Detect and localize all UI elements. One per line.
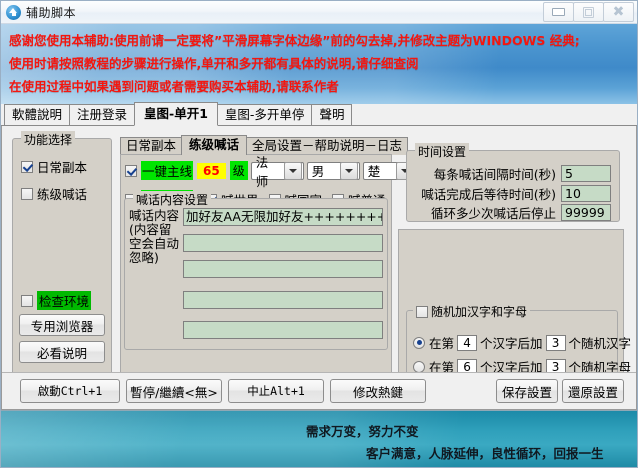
time-settings-legend: 时间设置 (415, 143, 469, 160)
shout-label-line-3: 空会自动 (129, 237, 181, 251)
shout-content-legend: 喊话内容设置 (133, 191, 211, 208)
checkbox-check-environment[interactable]: 检查环境 (21, 291, 91, 310)
notice-line-1: 感谢您使用本辅助:使用前请一定要将”平滑屏幕字体边缘”前的勾去掉,并修改主题为W… (9, 29, 637, 52)
check-environment-label: 检查环境 (37, 291, 91, 310)
function-select-legend: 功能选择 (21, 131, 75, 148)
tab-statement[interactable]: 聲明 (311, 104, 352, 125)
notice-line-2: 使用时请按照教程的步骤进行操作,单开和多开都有具体的说明,请仔细查阅 (9, 52, 637, 75)
checkbox-label: 练级喊话 (37, 184, 87, 203)
chevron-down-icon[interactable] (340, 162, 358, 180)
radio-prefix: 在第 (429, 333, 454, 352)
tab-content-panel: 功能选择 日常副本 练级喊话 检查环境 专用浏览器 必看说明 日常副 (1, 126, 637, 410)
interval-seconds-input[interactable]: 5 (561, 165, 611, 182)
tab-register-login[interactable]: 注册登录 (69, 104, 135, 125)
select-gender[interactable]: 男 (307, 162, 360, 180)
level-value-input[interactable]: 65 (197, 163, 226, 179)
main-tabstrip: 軟體說明 注册登录 皇图-单开1 皇图-多开单停 聲明 (1, 104, 637, 126)
shout-content-label: 喊话内容 (内容留 空会自动 忽略) (129, 209, 181, 265)
shout-input-5[interactable] (183, 321, 383, 339)
main-line-row: 一键主线 65 级 法师 男 楚 (125, 161, 416, 180)
checkbox-level-shout[interactable]: 练级喊话 (21, 184, 87, 203)
must-read-button[interactable]: 必看说明 (19, 341, 105, 363)
time-row-interval: 每条喊话间隔时间(秒) 5 (434, 164, 611, 183)
stop-button[interactable]: 中止Alt+1 (228, 379, 324, 403)
loop-count-input[interactable]: 99999 (561, 204, 611, 221)
time-row-wait: 喊话完成后等待时间(秒) 10 (421, 184, 611, 203)
app-window: 辅助脚本 ✖ 感谢您使用本辅助:使用前请一定要将”平滑屏幕字体边缘”前的勾去掉,… (0, 0, 638, 468)
notice-banner: 感谢您使用本辅助:使用前请一定要将”平滑屏幕字体边缘”前的勾去掉,并修改主题为W… (1, 24, 637, 104)
function-select-group: 功能选择 日常副本 练级喊话 检查环境 专用浏览器 必看说明 (12, 138, 112, 386)
checkbox-icon (21, 295, 33, 307)
title-bar: 辅助脚本 ✖ (1, 1, 637, 24)
start-button[interactable]: 啟動Ctrl+1 (20, 379, 120, 403)
footer-line-2: 客户满意，人脉延伸，良性循环，回报一生 (366, 443, 604, 462)
radio-random-hanzi[interactable]: 在第 4 个汉字后加 3 个随机汉字 (413, 333, 631, 352)
edit-hotkey-button[interactable]: 修改熱鍵 (330, 379, 426, 403)
time-row-label: 循环多少次喊话后停止 (431, 203, 556, 222)
footer-banner: 需求万变，努力不变 客户满意，人脉延伸，良性循环，回报一生 (1, 410, 637, 467)
maximize-button[interactable] (573, 2, 604, 22)
time-row-label: 喊话完成后等待时间(秒) (421, 184, 556, 203)
select-gender-value: 男 (308, 161, 340, 180)
shout-label-line-2: (内容留 (129, 223, 181, 237)
time-row-loops: 循环多少次喊话后停止 99999 (431, 203, 611, 222)
level-unit-label: 级 (230, 161, 248, 180)
action-button-bar: 啟動Ctrl+1 暫停/繼續<無> 中止Alt+1 修改熱鍵 保存設置 還原設置 (2, 372, 636, 409)
radio-suffix: 个随机汉字 (569, 333, 632, 352)
random-hanzi-position-input[interactable]: 4 (457, 335, 477, 351)
tab-huangtu-single-1[interactable]: 皇图-单开1 (134, 102, 218, 126)
shout-input-3[interactable] (183, 260, 383, 278)
tab-huangtu-multi[interactable]: 皇图-多开单停 (217, 104, 313, 125)
dedicated-browser-button[interactable]: 专用浏览器 (19, 314, 105, 336)
window-controls: ✖ (544, 2, 634, 22)
close-icon: ✖ (613, 5, 625, 19)
shout-input-4[interactable] (183, 291, 383, 309)
inner-tab-daily-dungeon[interactable]: 日常副本 (120, 137, 182, 155)
select-country-value: 楚 (364, 161, 396, 180)
checkbox-one-key-mainline[interactable]: 一键主线 (125, 161, 193, 180)
radio-mid: 个汉字后加 (480, 333, 543, 352)
minimize-icon (552, 8, 565, 16)
random-append-legend[interactable]: 随机加汉字和字母 (413, 303, 530, 320)
checkbox-icon (125, 165, 137, 177)
shout-label-line-4: 忽略) (129, 251, 181, 265)
chevron-down-icon[interactable] (284, 162, 302, 180)
random-append-legend-label: 随机加汉字和字母 (431, 303, 527, 320)
settings-content: 功能选择 日常副本 练级喊话 检查环境 专用浏览器 必看说明 日常副 (2, 126, 636, 372)
pause-resume-button[interactable]: 暫停/繼續<無> (126, 379, 222, 403)
select-class[interactable]: 法师 (251, 162, 304, 180)
maximize-icon (583, 7, 594, 18)
checkbox-icon (416, 306, 428, 318)
notice-line-3: 在使用过程中如果遇到问题或者需要购买本辅助,请联系作者 (9, 75, 637, 98)
checkbox-daily-dungeon[interactable]: 日常副本 (21, 157, 87, 176)
time-row-label: 每条喊话间隔时间(秒) (434, 164, 556, 183)
shout-input-2[interactable] (183, 234, 383, 252)
random-hanzi-count-input[interactable]: 3 (546, 335, 566, 351)
shout-label-line-1: 喊话内容 (129, 209, 181, 223)
checkbox-icon (21, 161, 33, 173)
inner-tab-level-shout[interactable]: 练级喊话 (181, 135, 247, 155)
checkbox-label: 日常副本 (37, 157, 87, 176)
select-class-value: 法师 (252, 152, 284, 190)
shout-content-group: 喊话内容设置 喊话内容 (内容留 空会自动 忽略) 加好友AA无限加好友++++… (124, 198, 388, 350)
window-title: 辅助脚本 (26, 4, 76, 21)
restore-settings-button[interactable]: 還原設置 (562, 379, 624, 403)
tab-software-info[interactable]: 軟體說明 (4, 104, 70, 125)
time-settings-group: 时间设置 每条喊话间隔时间(秒) 5 喊话完成后等待时间(秒) 10 循环多少次… (406, 150, 620, 222)
one-key-mainline-label: 一键主线 (141, 161, 193, 180)
close-button[interactable]: ✖ (603, 2, 634, 22)
radio-icon (413, 337, 425, 349)
minimize-button[interactable] (543, 2, 574, 22)
checkbox-icon (21, 188, 33, 200)
save-settings-button[interactable]: 保存設置 (496, 379, 558, 403)
wait-seconds-input[interactable]: 10 (561, 185, 611, 202)
shout-input-1[interactable]: 加好友AA无限加好友++++++++ (183, 208, 383, 226)
footer-line-1: 需求万变，努力不变 (306, 421, 419, 440)
radio-icon (413, 361, 425, 373)
app-home-icon (6, 5, 21, 20)
